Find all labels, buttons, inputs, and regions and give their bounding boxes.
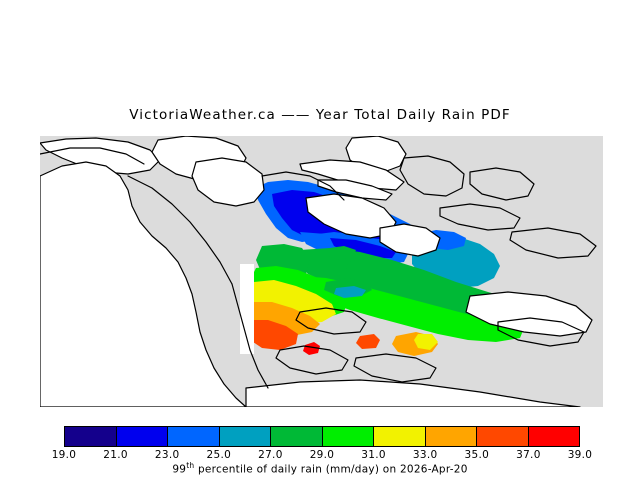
colorbar-tick-37.0: 37.0 bbox=[516, 449, 541, 461]
colorbar-segment-35.0-37.0[interactable] bbox=[477, 427, 529, 446]
map-svg bbox=[0, 136, 640, 407]
colorbar-tick-39.0: 39.0 bbox=[568, 449, 593, 461]
colorbar-tick-31.0: 31.0 bbox=[361, 449, 386, 461]
colorbar-tick-19.0: 19.0 bbox=[52, 449, 77, 461]
colorbar-tick-35.0: 35.0 bbox=[465, 449, 490, 461]
colorbar-segment-21.0-23.0[interactable] bbox=[117, 427, 169, 446]
colorbar-segment-23.0-25.0[interactable] bbox=[168, 427, 220, 446]
colorbar-tick-29.0: 29.0 bbox=[310, 449, 335, 461]
colorbar-tick-33.0: 33.0 bbox=[413, 449, 438, 461]
caption-prefix: 99 bbox=[172, 464, 186, 476]
colorbar[interactable] bbox=[64, 426, 580, 447]
colorbar-segment-31.0-33.0[interactable] bbox=[374, 427, 426, 446]
colorbar-segment-25.0-27.0[interactable] bbox=[220, 427, 272, 446]
map-right-white-margin bbox=[603, 136, 640, 407]
rainfall-map bbox=[0, 136, 640, 407]
colorbar-tick-27.0: 27.0 bbox=[258, 449, 283, 461]
colorbar-segment-27.0-29.0[interactable] bbox=[271, 427, 323, 446]
colorbar-tick-23.0: 23.0 bbox=[155, 449, 180, 461]
caption-rest: percentile of daily rain (mm/day) on 202… bbox=[194, 464, 467, 476]
colorbar-tick-25.0: 25.0 bbox=[207, 449, 232, 461]
colorbar-segment-19.0-21.0[interactable] bbox=[65, 427, 117, 446]
colorbar-segment-29.0-31.0[interactable] bbox=[323, 427, 375, 446]
colorbar-segment-33.0-35.0[interactable] bbox=[426, 427, 478, 446]
colorbar-segment-37.0-39.0[interactable] bbox=[529, 427, 580, 446]
colorbar-tick-21.0: 21.0 bbox=[103, 449, 128, 461]
page-title: VictoriaWeather.ca —— Year Total Daily R… bbox=[0, 107, 640, 123]
colorbar-caption: 99th percentile of daily rain (mm/day) o… bbox=[0, 461, 640, 476]
map-left-outer-white-margin bbox=[0, 136, 40, 407]
